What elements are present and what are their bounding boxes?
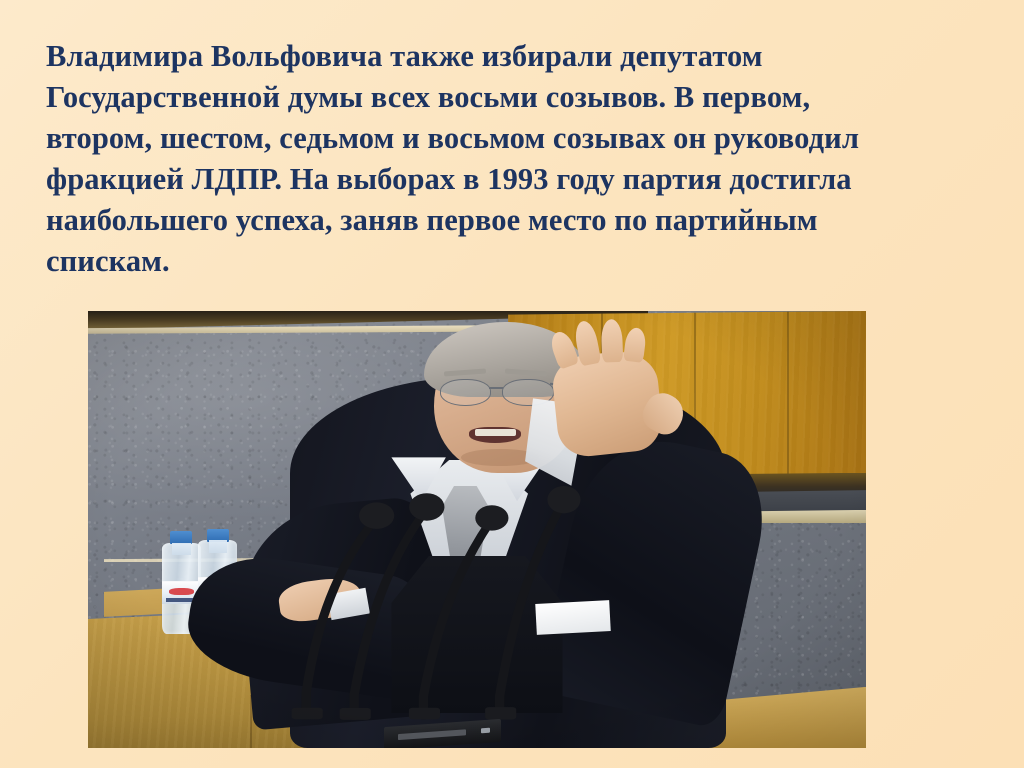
paragraph-line-6: спискам. — [46, 241, 994, 282]
slide-canvas: Владимира Вольфовича также избирали депу… — [0, 0, 1024, 768]
slide-body-text: Владимира Вольфовича также избирали депу… — [46, 36, 994, 282]
paragraph-line-2: Государственной думы всех восьми созывов… — [46, 77, 994, 118]
eyeglasses-lens-left — [440, 379, 492, 405]
console-slot — [398, 729, 466, 740]
console-indicator — [480, 728, 489, 734]
paragraph-line-3: втором, шестом, седьмом и восьмом созыва… — [46, 118, 994, 159]
microphone — [454, 486, 578, 722]
teeth — [475, 429, 515, 436]
paragraph-line-1: Владимира Вольфовича также избирали депу… — [46, 36, 994, 77]
paragraph-line-4: фракцией ЛДПР. На выборах в 1993 году па… — [46, 159, 994, 200]
eyeglasses-bridge — [489, 387, 504, 389]
finger — [622, 326, 646, 362]
paragraph-line-5: наибольшего успеха, заняв первое место п… — [46, 200, 994, 241]
slide-photograph — [88, 311, 866, 748]
finger — [600, 318, 622, 362]
